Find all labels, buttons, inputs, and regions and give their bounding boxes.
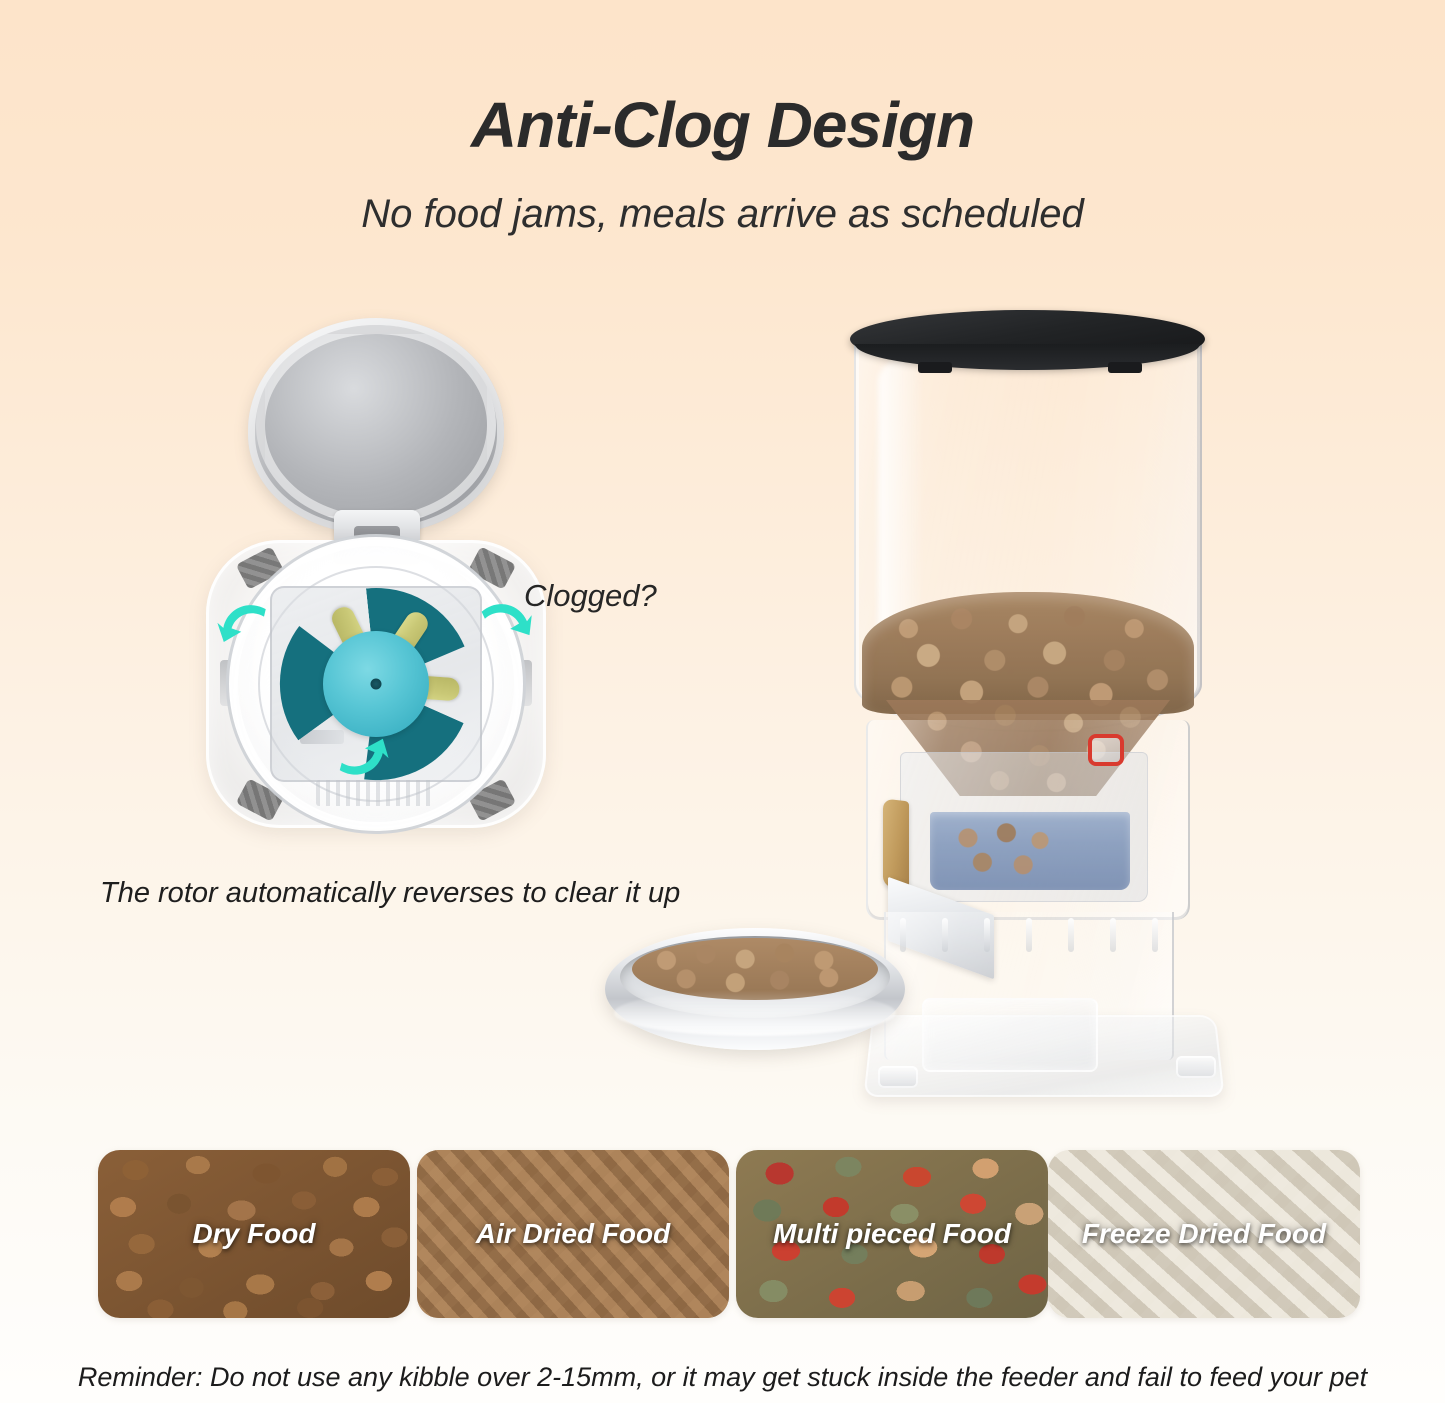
food-card-label: Dry Food xyxy=(98,1218,410,1250)
food-card-label: Freeze Dried Food xyxy=(1048,1218,1360,1250)
kibble-in-module xyxy=(944,820,1064,884)
lid-rim xyxy=(256,325,496,525)
lid-latch xyxy=(1108,362,1142,373)
lid-latch xyxy=(918,362,952,373)
base-foot xyxy=(878,1066,918,1088)
rotor-diagram xyxy=(196,318,556,838)
food-card-label: Multi pieced Food xyxy=(736,1218,1048,1250)
gold-chute xyxy=(883,799,909,890)
infographic-canvas: Anti-Clog Design No food jams, meals arr… xyxy=(0,0,1445,1403)
bowl-rim-highlight xyxy=(614,990,896,1036)
page-title: Anti-Clog Design xyxy=(0,88,1445,162)
rotor-housing xyxy=(206,540,546,828)
reminder-text: Reminder: Do not use any kibble over 2-1… xyxy=(0,1362,1445,1393)
housing-base-detail xyxy=(316,780,436,806)
reverse-arrow-icon xyxy=(331,732,390,779)
food-card-dry: Dry Food xyxy=(98,1150,410,1318)
kibble-in-hopper xyxy=(862,592,1194,714)
page-subtitle: No food jams, meals arrive as scheduled xyxy=(0,192,1445,237)
food-card-label: Air Dried Food xyxy=(417,1218,729,1250)
base-foot xyxy=(1176,1056,1216,1078)
column-ribs xyxy=(900,918,1158,952)
rotor-axle xyxy=(371,679,382,690)
food-card-freeze-dried: Freeze Dried Food xyxy=(1048,1150,1360,1318)
base-window xyxy=(922,998,1098,1072)
red-indicator-button xyxy=(1088,734,1124,766)
food-card-multi-pieced: Multi pieced Food xyxy=(736,1150,1048,1318)
pet-feeder-product-image xyxy=(600,300,1300,1090)
food-type-cards: Dry Food Air Dried Food Multi pieced Foo… xyxy=(0,1150,1445,1318)
rotor-caption: The rotor automatically reverses to clea… xyxy=(100,877,680,910)
food-card-air-dried: Air Dried Food xyxy=(417,1150,729,1318)
